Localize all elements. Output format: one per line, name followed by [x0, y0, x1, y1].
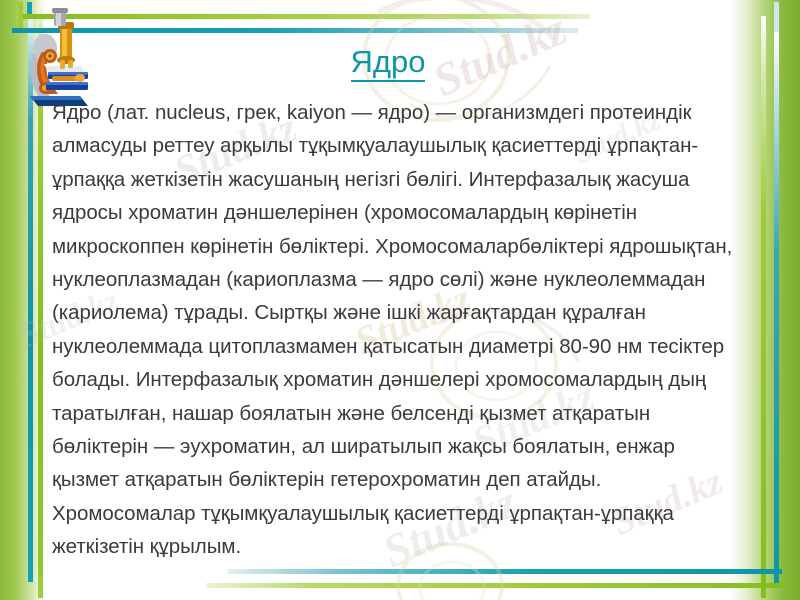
page-title: Ядро — [46, 44, 730, 80]
left-green-rule — [38, 8, 43, 586]
corner-tick-top-right — [774, 2, 779, 32]
slide-canvas: Stud.kz Stud.kz Stud.kz Stud.kz Stud.kz … — [0, 0, 800, 600]
left-teal-rule — [28, 18, 33, 582]
top-green-rule — [18, 14, 590, 19]
bottom-green-rule — [206, 583, 788, 588]
corner-tick-top-left-green — [18, 2, 23, 28]
page-title-text: Ядро — [351, 44, 426, 82]
corner-tick-bottom-left — [38, 576, 43, 598]
top-teal-rule — [12, 28, 578, 33]
corner-tick-top-left-teal — [27, 2, 32, 14]
right-teal-rule — [774, 30, 779, 586]
body-paragraph: Ядро (лат. nucleus, грек, kaiyon — ядро)… — [52, 96, 736, 564]
right-green-rule — [761, 16, 766, 586]
bottom-teal-rule — [228, 569, 782, 574]
corner-tick-bottom-right — [761, 582, 766, 598]
